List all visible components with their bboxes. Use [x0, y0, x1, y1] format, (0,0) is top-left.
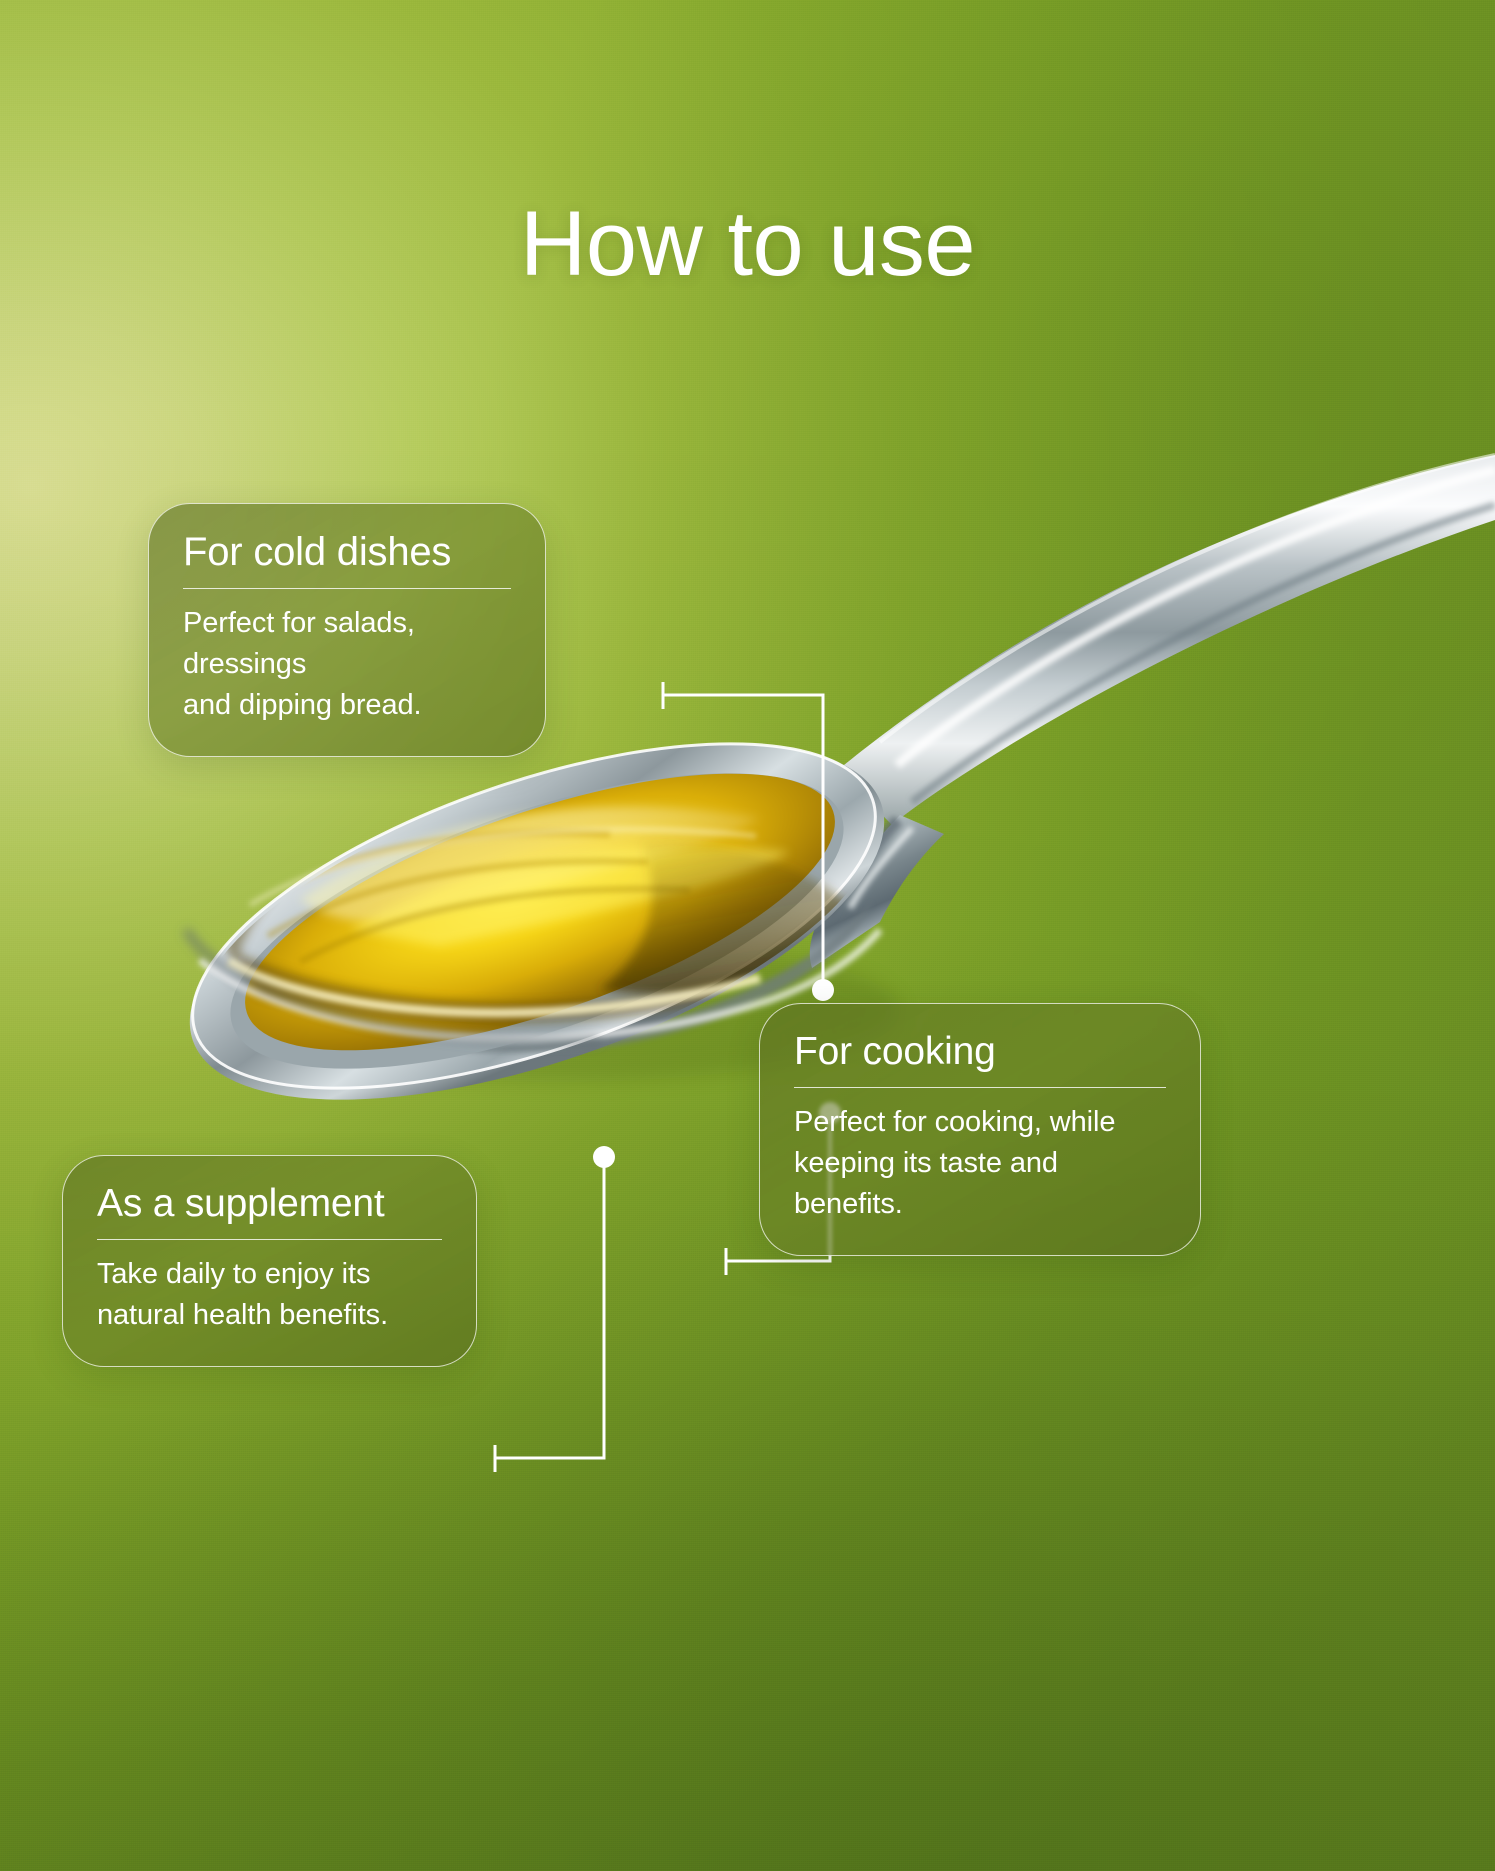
callout-body-line: Perfect for salads, dressings: [183, 603, 511, 685]
callout-divider: [183, 588, 511, 589]
callout-body-line: natural health benefits.: [97, 1295, 442, 1336]
callout-body-line: Perfect for cooking, while: [794, 1102, 1166, 1143]
callout-divider: [97, 1239, 442, 1240]
callout-connectors: [0, 0, 1495, 1871]
callout-title: For cold dishes: [183, 530, 511, 575]
connector-dot-icon: [812, 979, 834, 1001]
callout-card-for-cooking[interactable]: For cooking Perfect for cooking, while k…: [759, 1003, 1201, 1256]
callout-title: As a supplement: [97, 1182, 442, 1226]
callout-title: For cooking: [794, 1030, 1166, 1074]
callout-body-line: keeping its taste and benefits.: [794, 1143, 1166, 1225]
callout-body-line: and dipping bread.: [183, 685, 511, 726]
callout-card-as-a-supplement[interactable]: As a supplement Take daily to enjoy its …: [62, 1155, 477, 1367]
callout-divider: [794, 1087, 1166, 1088]
callout-body: Perfect for salads, dressings and dippin…: [183, 603, 511, 727]
callout-card-for-cold-dishes[interactable]: For cold dishes Perfect for salads, dres…: [148, 503, 546, 757]
connector-for-cold-dishes: [663, 682, 834, 1001]
callout-body: Take daily to enjoy its natural health b…: [97, 1254, 442, 1336]
callout-body-line: Take daily to enjoy its: [97, 1254, 442, 1295]
connector-dot-icon: [593, 1146, 615, 1168]
callout-body: Perfect for cooking, while keeping its t…: [794, 1102, 1166, 1226]
connector-as-a-supplement: [495, 1146, 615, 1472]
poster-canvas: How to use For cold dishes Perfect for s…: [0, 0, 1495, 1871]
